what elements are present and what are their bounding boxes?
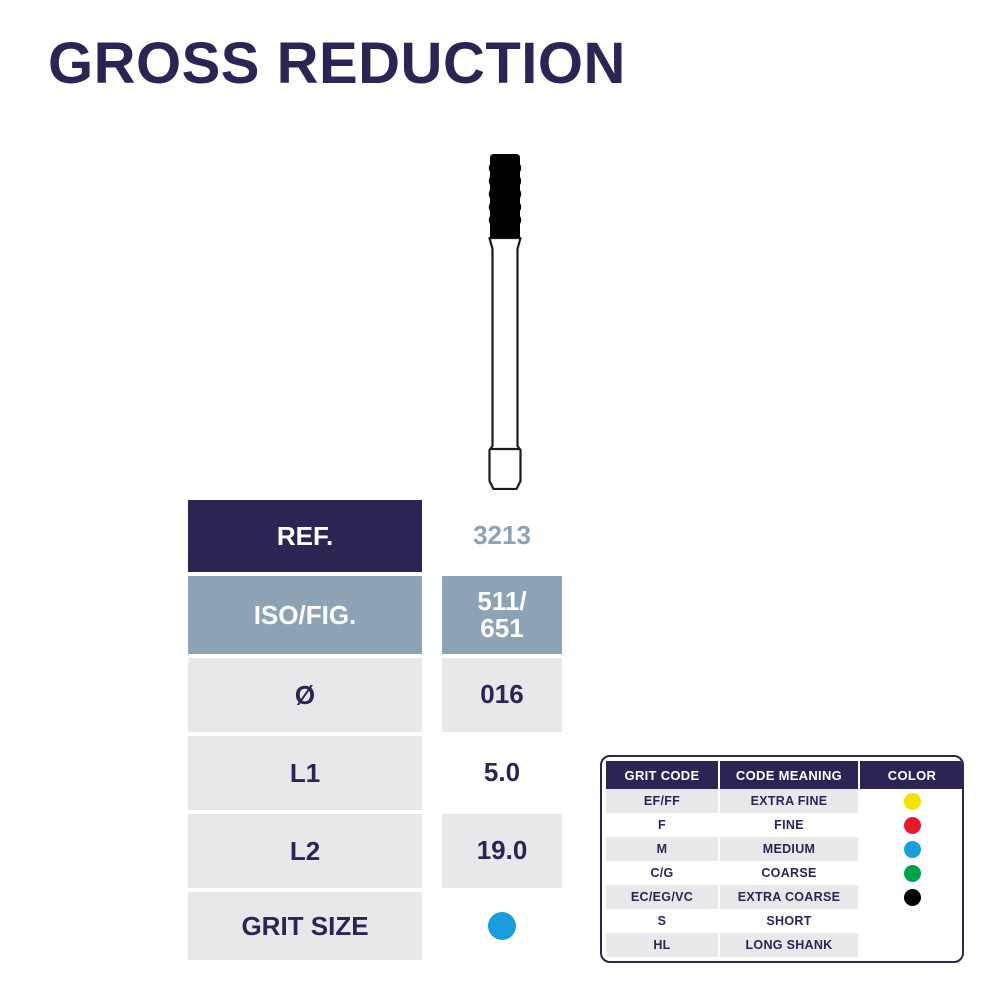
legend-meaning-extra-coarse: EXTRA COARSE [719, 885, 859, 909]
legend-color-long-shank [859, 933, 964, 957]
spec-row-l2: L2 19.0 [188, 814, 568, 888]
legend-code-coarse: C/G [606, 861, 719, 885]
legend-code-medium: M [606, 837, 719, 861]
legend-dot-extra-fine [904, 793, 921, 810]
spec-label-grit-size: GRIT SIZE [188, 892, 422, 960]
legend-color-extra-fine [859, 789, 964, 813]
legend-meaning-extra-fine: EXTRA FINE [719, 789, 859, 813]
spec-value-iso-fig: 511/ 651 [442, 576, 562, 654]
legend-header-grit-code: GRIT CODE [606, 761, 719, 789]
spec-label-iso-fig: ISO/FIG. [188, 576, 422, 654]
legend-color-medium [859, 837, 964, 861]
spec-value-grit-size [442, 892, 562, 960]
spec-label-diameter: Ø [188, 658, 422, 732]
legend-row-coarse: C/G COARSE [606, 861, 964, 885]
legend-header-row: GRIT CODE CODE MEANING COLOR [606, 761, 964, 789]
legend-header-color: COLOR [859, 761, 964, 789]
grit-code-legend-table: GRIT CODE CODE MEANING COLOR EF/FF EXTRA… [600, 755, 964, 963]
bur-head-serrated [489, 154, 522, 238]
legend-code-long-shank: HL [606, 933, 719, 957]
spec-value-l1: 5.0 [442, 736, 562, 810]
spec-label-l2: L2 [188, 814, 422, 888]
spec-row-diameter: Ø 016 [188, 658, 568, 732]
legend-row-extra-coarse: EC/EG/VC EXTRA COARSE [606, 885, 964, 909]
legend-dot-medium [904, 841, 921, 858]
legend-dot-coarse [904, 865, 921, 882]
legend-row-fine: F FINE [606, 813, 964, 837]
spec-row-grit-size: GRIT SIZE [188, 892, 568, 960]
spec-row-iso-fig: ISO/FIG. 511/ 651 [188, 576, 568, 654]
dental-bur-illustration [470, 150, 540, 490]
specification-table: REF. 3213 ISO/FIG. 511/ 651 Ø 016 L1 5.0… [188, 500, 568, 960]
grit-size-color-dot [488, 912, 516, 940]
legend-dot-extra-coarse [904, 889, 921, 906]
legend-meaning-coarse: COARSE [719, 861, 859, 885]
spec-value-iso-line2: 651 [480, 615, 523, 642]
legend-row-short: S SHORT [606, 909, 964, 933]
legend-meaning-long-shank: LONG SHANK [719, 933, 859, 957]
spec-value-iso-line1: 511/ [477, 588, 526, 615]
legend-color-coarse [859, 861, 964, 885]
legend-meaning-fine: FINE [719, 813, 859, 837]
legend-color-extra-coarse [859, 885, 964, 909]
bur-shank [490, 238, 521, 489]
spec-value-ref: 3213 [442, 500, 562, 572]
legend-code-short: S [606, 909, 719, 933]
legend-dot-fine [904, 817, 921, 834]
legend-meaning-short: SHORT [719, 909, 859, 933]
legend-color-fine [859, 813, 964, 837]
spec-label-ref: REF. [188, 500, 422, 572]
legend-row-medium: M MEDIUM [606, 837, 964, 861]
legend-code-extra-coarse: EC/EG/VC [606, 885, 719, 909]
legend-row-long-shank: HL LONG SHANK [606, 933, 964, 957]
spec-value-diameter: 016 [442, 658, 562, 732]
legend-code-extra-fine: EF/FF [606, 789, 719, 813]
spec-row-l1: L1 5.0 [188, 736, 568, 810]
spec-value-l2: 19.0 [442, 814, 562, 888]
page-title: GROSS REDUCTION [48, 34, 626, 95]
spec-row-ref: REF. 3213 [188, 500, 568, 572]
spec-label-l1: L1 [188, 736, 422, 810]
legend-grid: GRIT CODE CODE MEANING COLOR EF/FF EXTRA… [606, 761, 964, 957]
legend-meaning-medium: MEDIUM [719, 837, 859, 861]
legend-color-short [859, 909, 964, 933]
legend-code-fine: F [606, 813, 719, 837]
legend-row-extra-fine: EF/FF EXTRA FINE [606, 789, 964, 813]
legend-header-code-meaning: CODE MEANING [719, 761, 859, 789]
